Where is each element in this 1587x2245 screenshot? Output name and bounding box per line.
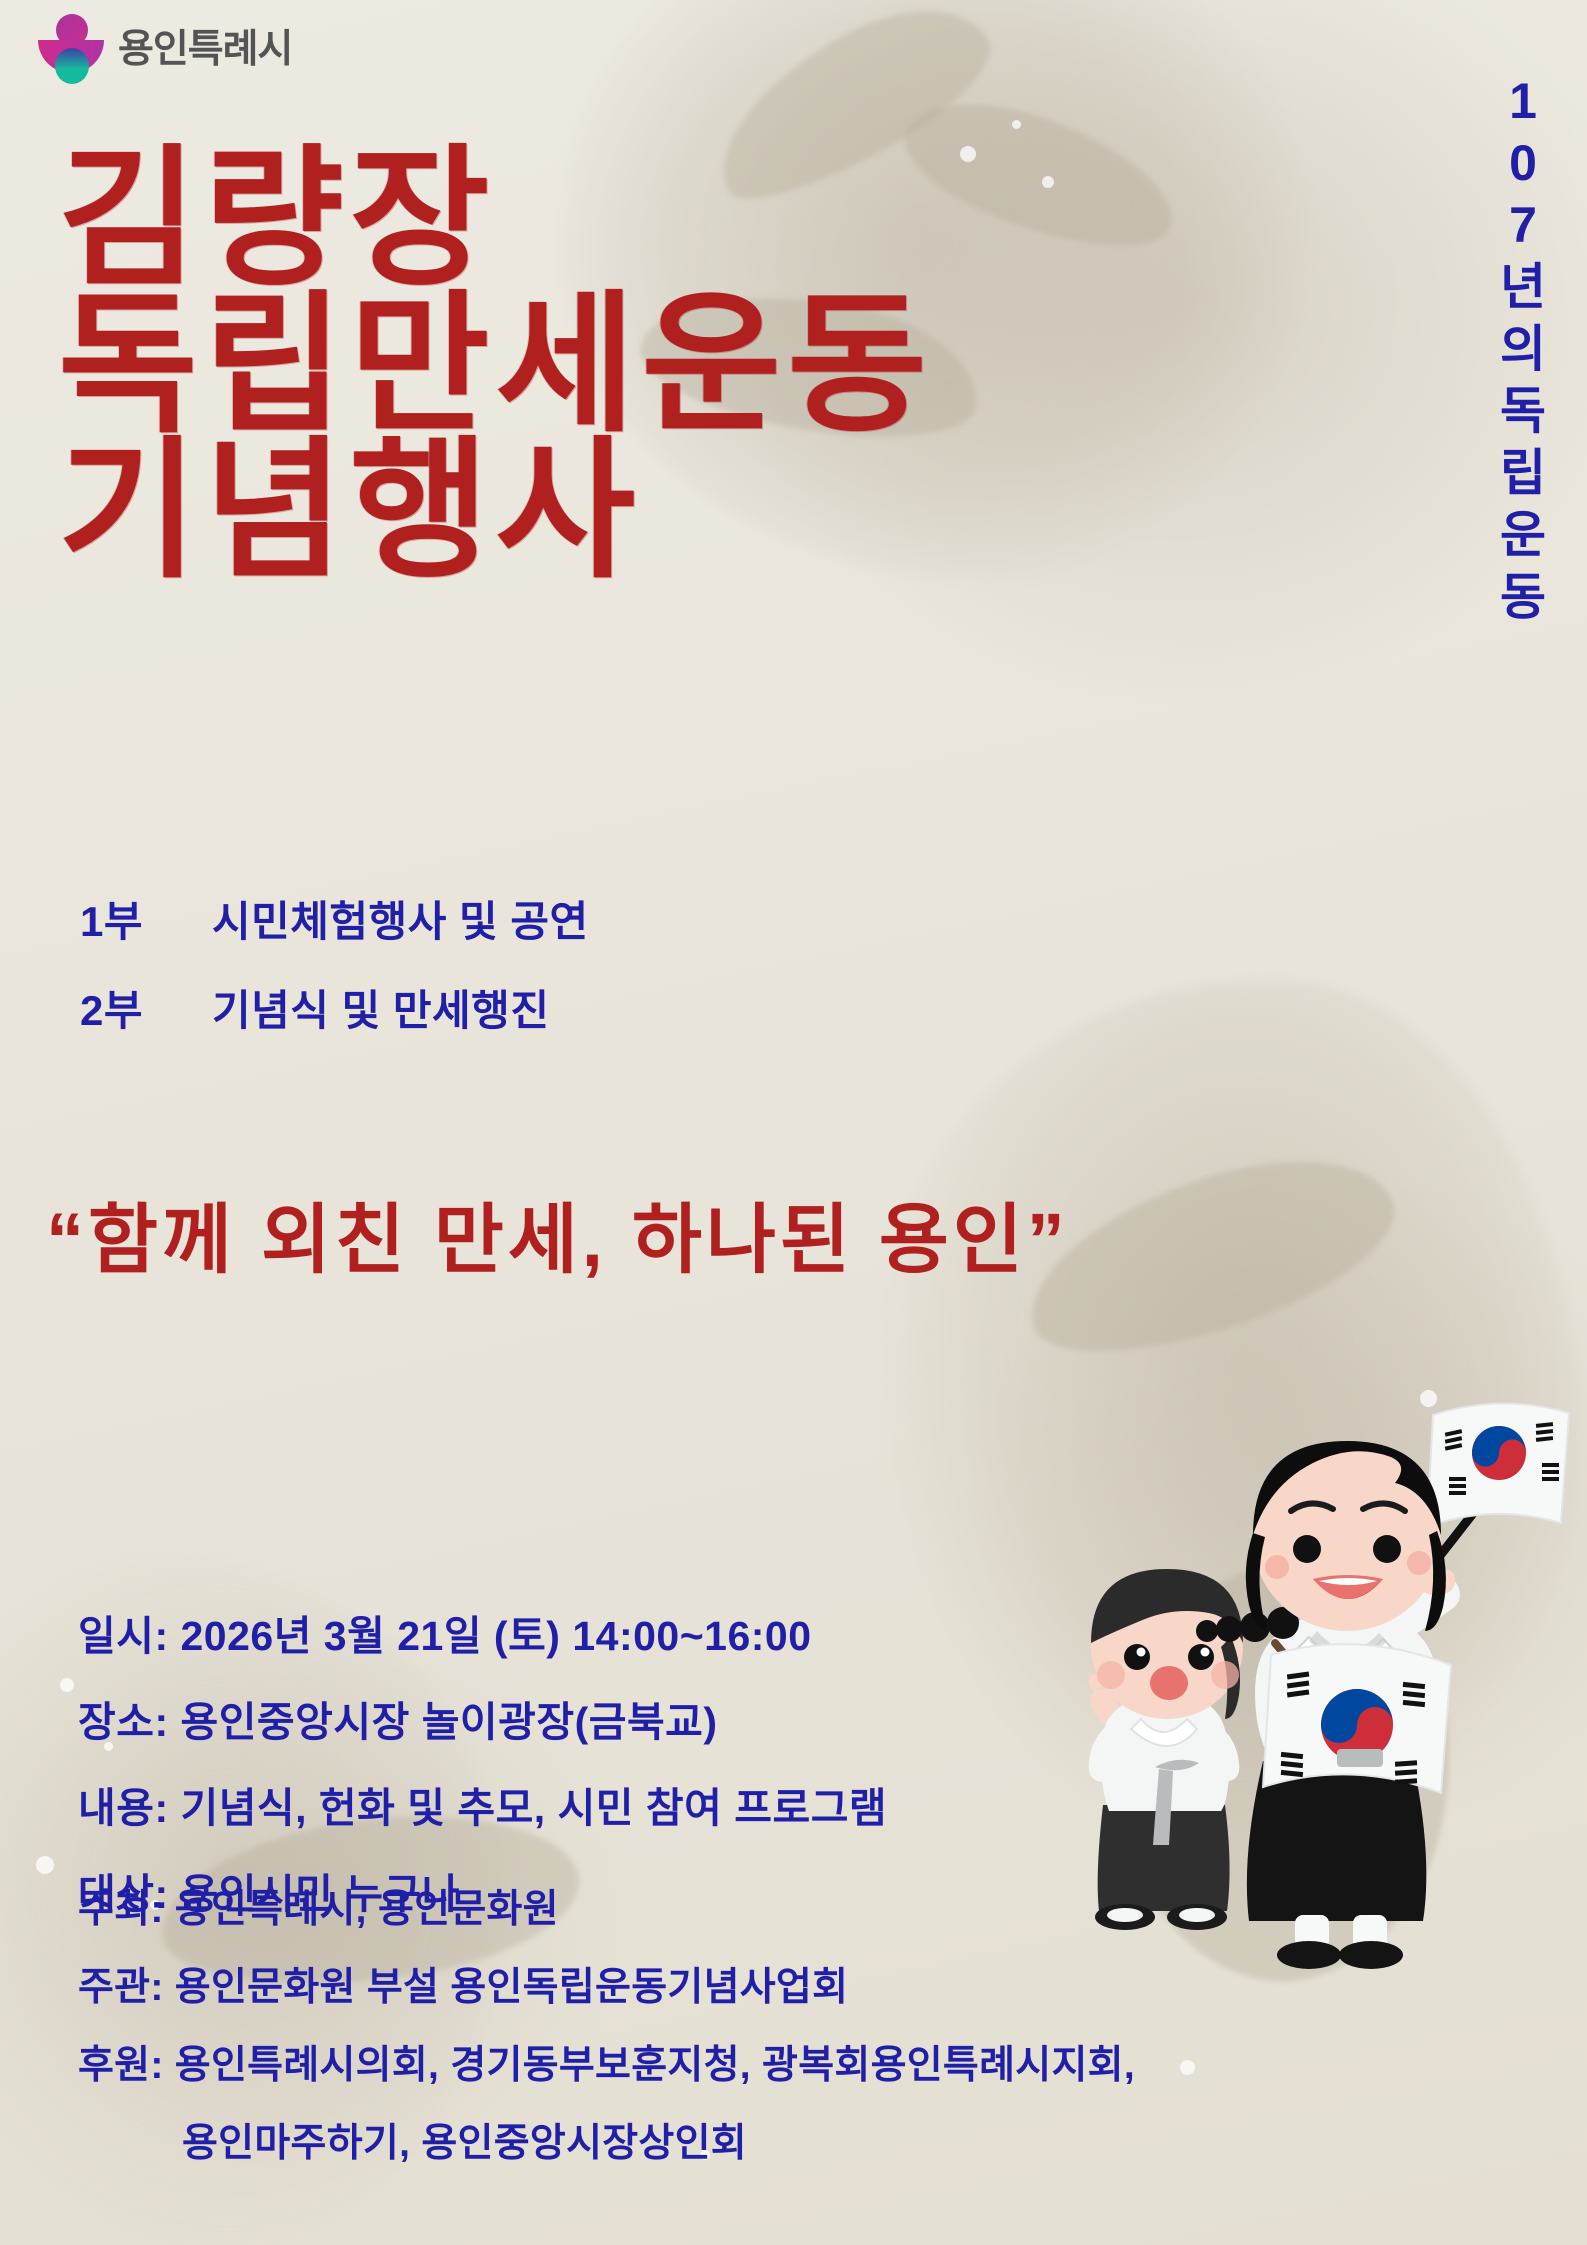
program-list: 1부 시민체험행사 및 공연 2부 기념식 및 만세행진 [80, 888, 589, 1066]
program-part-text: 기념식 및 만세행진 [212, 977, 549, 1038]
poster-canvas: 용인특례시 1 0 7 년 의 독 립 운 동 김량장 독립만세운동 기념행사 … [0, 0, 1587, 2245]
vertical-caption-char: 0 [1509, 132, 1537, 194]
vertical-caption-char: 동 [1500, 566, 1546, 628]
detail-datetime: 일시: 2026년 3월 21일 (토) 14:00~16:00 [78, 1602, 887, 1662]
vertical-caption: 1 0 7 년 의 독 립 운 동 [1487, 70, 1559, 628]
vertical-caption-char: 년 [1500, 256, 1546, 318]
taegeukgi-lower [1263, 1643, 1451, 1793]
yongin-city-emblem-icon [38, 14, 104, 84]
title-line-1: 김량장 [58, 150, 1058, 290]
event-slogan: “함께 외친 만세, 하나된 용인” [46, 1178, 1069, 1288]
credit-sponsor-line-1: 후원: 용인특례시의회, 경기동부보훈지청, 광복회용인특례시지회, [78, 2034, 1135, 2090]
program-part-text: 시민체험행사 및 공연 [212, 888, 589, 949]
taegeukgi-upper [1427, 1403, 1569, 1527]
title-line-3: 기념행사 [58, 442, 1058, 582]
program-part-number: 2부 [80, 977, 212, 1038]
vertical-caption-char: 독 [1500, 380, 1546, 442]
vertical-caption-char: 립 [1500, 442, 1546, 504]
vertical-caption-char: 의 [1500, 318, 1546, 380]
city-logo-text: 용인특례시 [118, 30, 292, 69]
city-logo: 용인특례시 [38, 14, 292, 84]
detail-location: 장소: 용인중앙시장 놀이광장(금북교) [78, 1688, 887, 1748]
paper-speck [1180, 2060, 1195, 2075]
title-line-2: 독립만세운동 [58, 296, 1058, 436]
emblem-body-shape [55, 48, 89, 84]
program-row: 1부 시민체험행사 및 공연 [80, 888, 589, 949]
credit-host: 주최: 용인특례시, 용인문화원 [78, 1878, 1135, 1934]
vertical-caption-char: 1 [1509, 70, 1537, 132]
detail-content: 내용: 기념식, 헌화 및 추모, 시민 참여 프로그램 [78, 1774, 887, 1834]
paper-speck [60, 1678, 74, 1692]
vertical-caption-char: 7 [1509, 194, 1537, 256]
hanbok-children-illustration [1085, 1375, 1585, 1975]
paper-speck [1012, 120, 1021, 129]
credit-organizer: 주관: 용인문화원 부설 용인독립운동기념사업회 [78, 1956, 1135, 2012]
paper-speck [36, 1856, 54, 1874]
program-part-number: 1부 [80, 888, 212, 949]
child-figure-large [1196, 1403, 1569, 1969]
poster-title: 김량장 독립만세운동 기념행사 [58, 150, 1058, 581]
event-credits: 주최: 용인특례시, 용인문화원 주관: 용인문화원 부설 용인독립운동기념사업… [78, 1878, 1135, 2190]
program-row: 2부 기념식 및 만세행진 [80, 977, 589, 1038]
credit-sponsor-line-2: 용인마주하기, 용인중앙시장상인회 [78, 2112, 1135, 2168]
vertical-caption-char: 운 [1500, 504, 1546, 566]
